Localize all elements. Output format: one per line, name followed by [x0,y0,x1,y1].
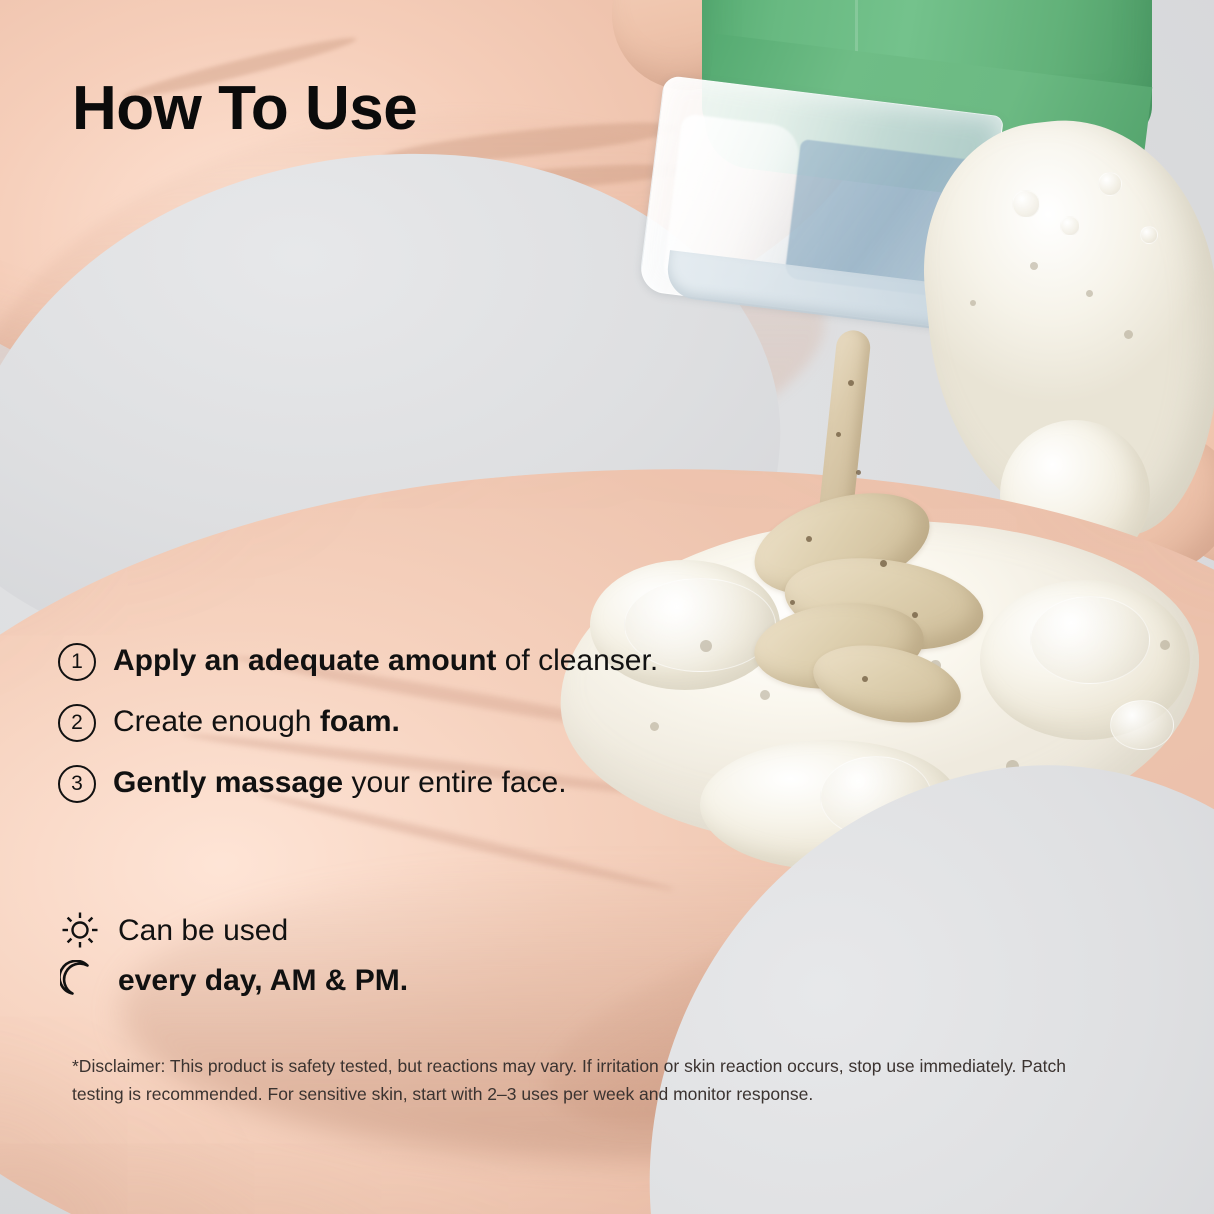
step-bold-2: foam. [320,705,400,738]
text-overlay: How To Use 1 Apply an adequate amount of… [0,0,1214,1214]
list-item: 2 Create enough foam. [58,701,758,742]
step-bold-3: Gently massage [113,766,343,799]
moon-icon [58,958,102,1002]
step-regular-1: of cleanser. [496,644,658,677]
sun-icon [58,908,102,952]
list-item: 3 Gently massage your entire face. [58,762,758,803]
usage-row-night: every day, AM & PM. [58,955,408,1005]
step-number-2: 2 [58,704,96,742]
step-regular-2: Create enough [113,705,320,738]
step-number-1: 1 [58,643,96,681]
how-to-use-infographic: How To Use 1 Apply an adequate amount of… [0,0,1214,1214]
step-regular-3: your entire face. [343,766,566,799]
step-text-1: Apply an adequate amount of cleanser. [113,640,658,681]
usage-text-night: every day, AM & PM. [118,964,408,997]
step-text-3: Gently massage your entire face. [113,762,567,803]
steps-list: 1 Apply an adequate amount of cleanser. … [58,640,758,823]
step-number-3: 3 [58,765,96,803]
page-title: How To Use [72,78,417,140]
disclaimer-text: *Disclaimer: This product is safety test… [72,1052,1108,1109]
usage-row-day: Can be used [58,905,408,955]
step-bold-1: Apply an adequate amount [113,644,496,677]
step-text-2: Create enough foam. [113,701,400,742]
list-item: 1 Apply an adequate amount of cleanser. [58,640,758,681]
usage-frequency: Can be used every day, AM & PM. [58,905,408,1005]
usage-text-day: Can be used [118,914,288,947]
